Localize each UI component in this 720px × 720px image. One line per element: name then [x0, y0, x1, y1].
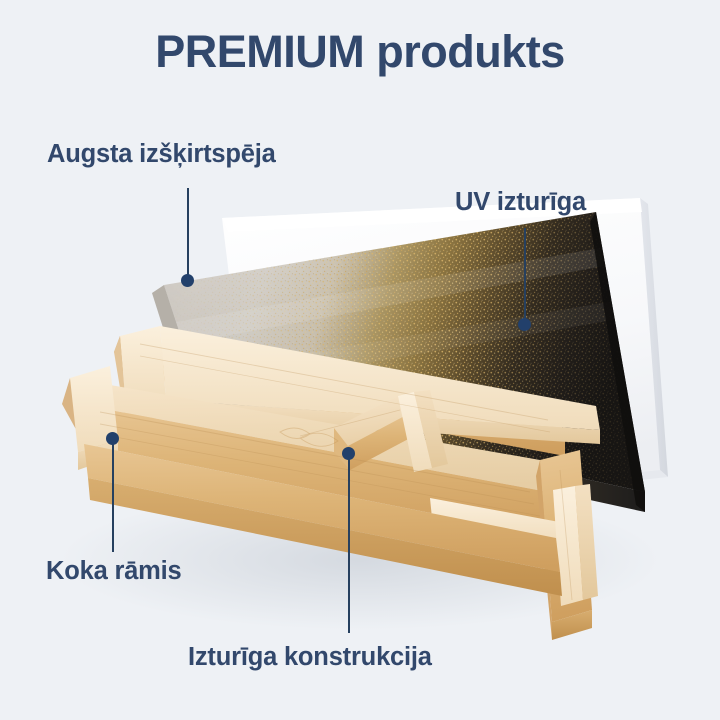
callout-dot-uv	[518, 318, 531, 331]
callout-label-resolution: Augsta izšķirtspēja	[47, 140, 276, 169]
callout-dot-resolution	[181, 274, 194, 287]
callout-label-frame: Koka rāmis	[46, 557, 182, 586]
callout-leader-line-construction	[348, 455, 350, 633]
exploded-product-illustration	[0, 0, 720, 720]
page-title: PREMIUM produkts	[0, 26, 720, 78]
callout-leader-line-frame	[112, 440, 114, 552]
callout-leader-line-resolution	[187, 188, 189, 280]
callout-label-uv: UV izturīga	[455, 188, 586, 217]
callout-dot-construction	[342, 447, 355, 460]
callout-leader-line-uv	[524, 228, 526, 324]
callout-label-construction: Izturīga konstrukcija	[188, 643, 432, 672]
callout-dot-frame	[106, 432, 119, 445]
product-feature-graphic: PREMIUM produkts Augsta izšķirtspēja UV …	[0, 0, 720, 720]
